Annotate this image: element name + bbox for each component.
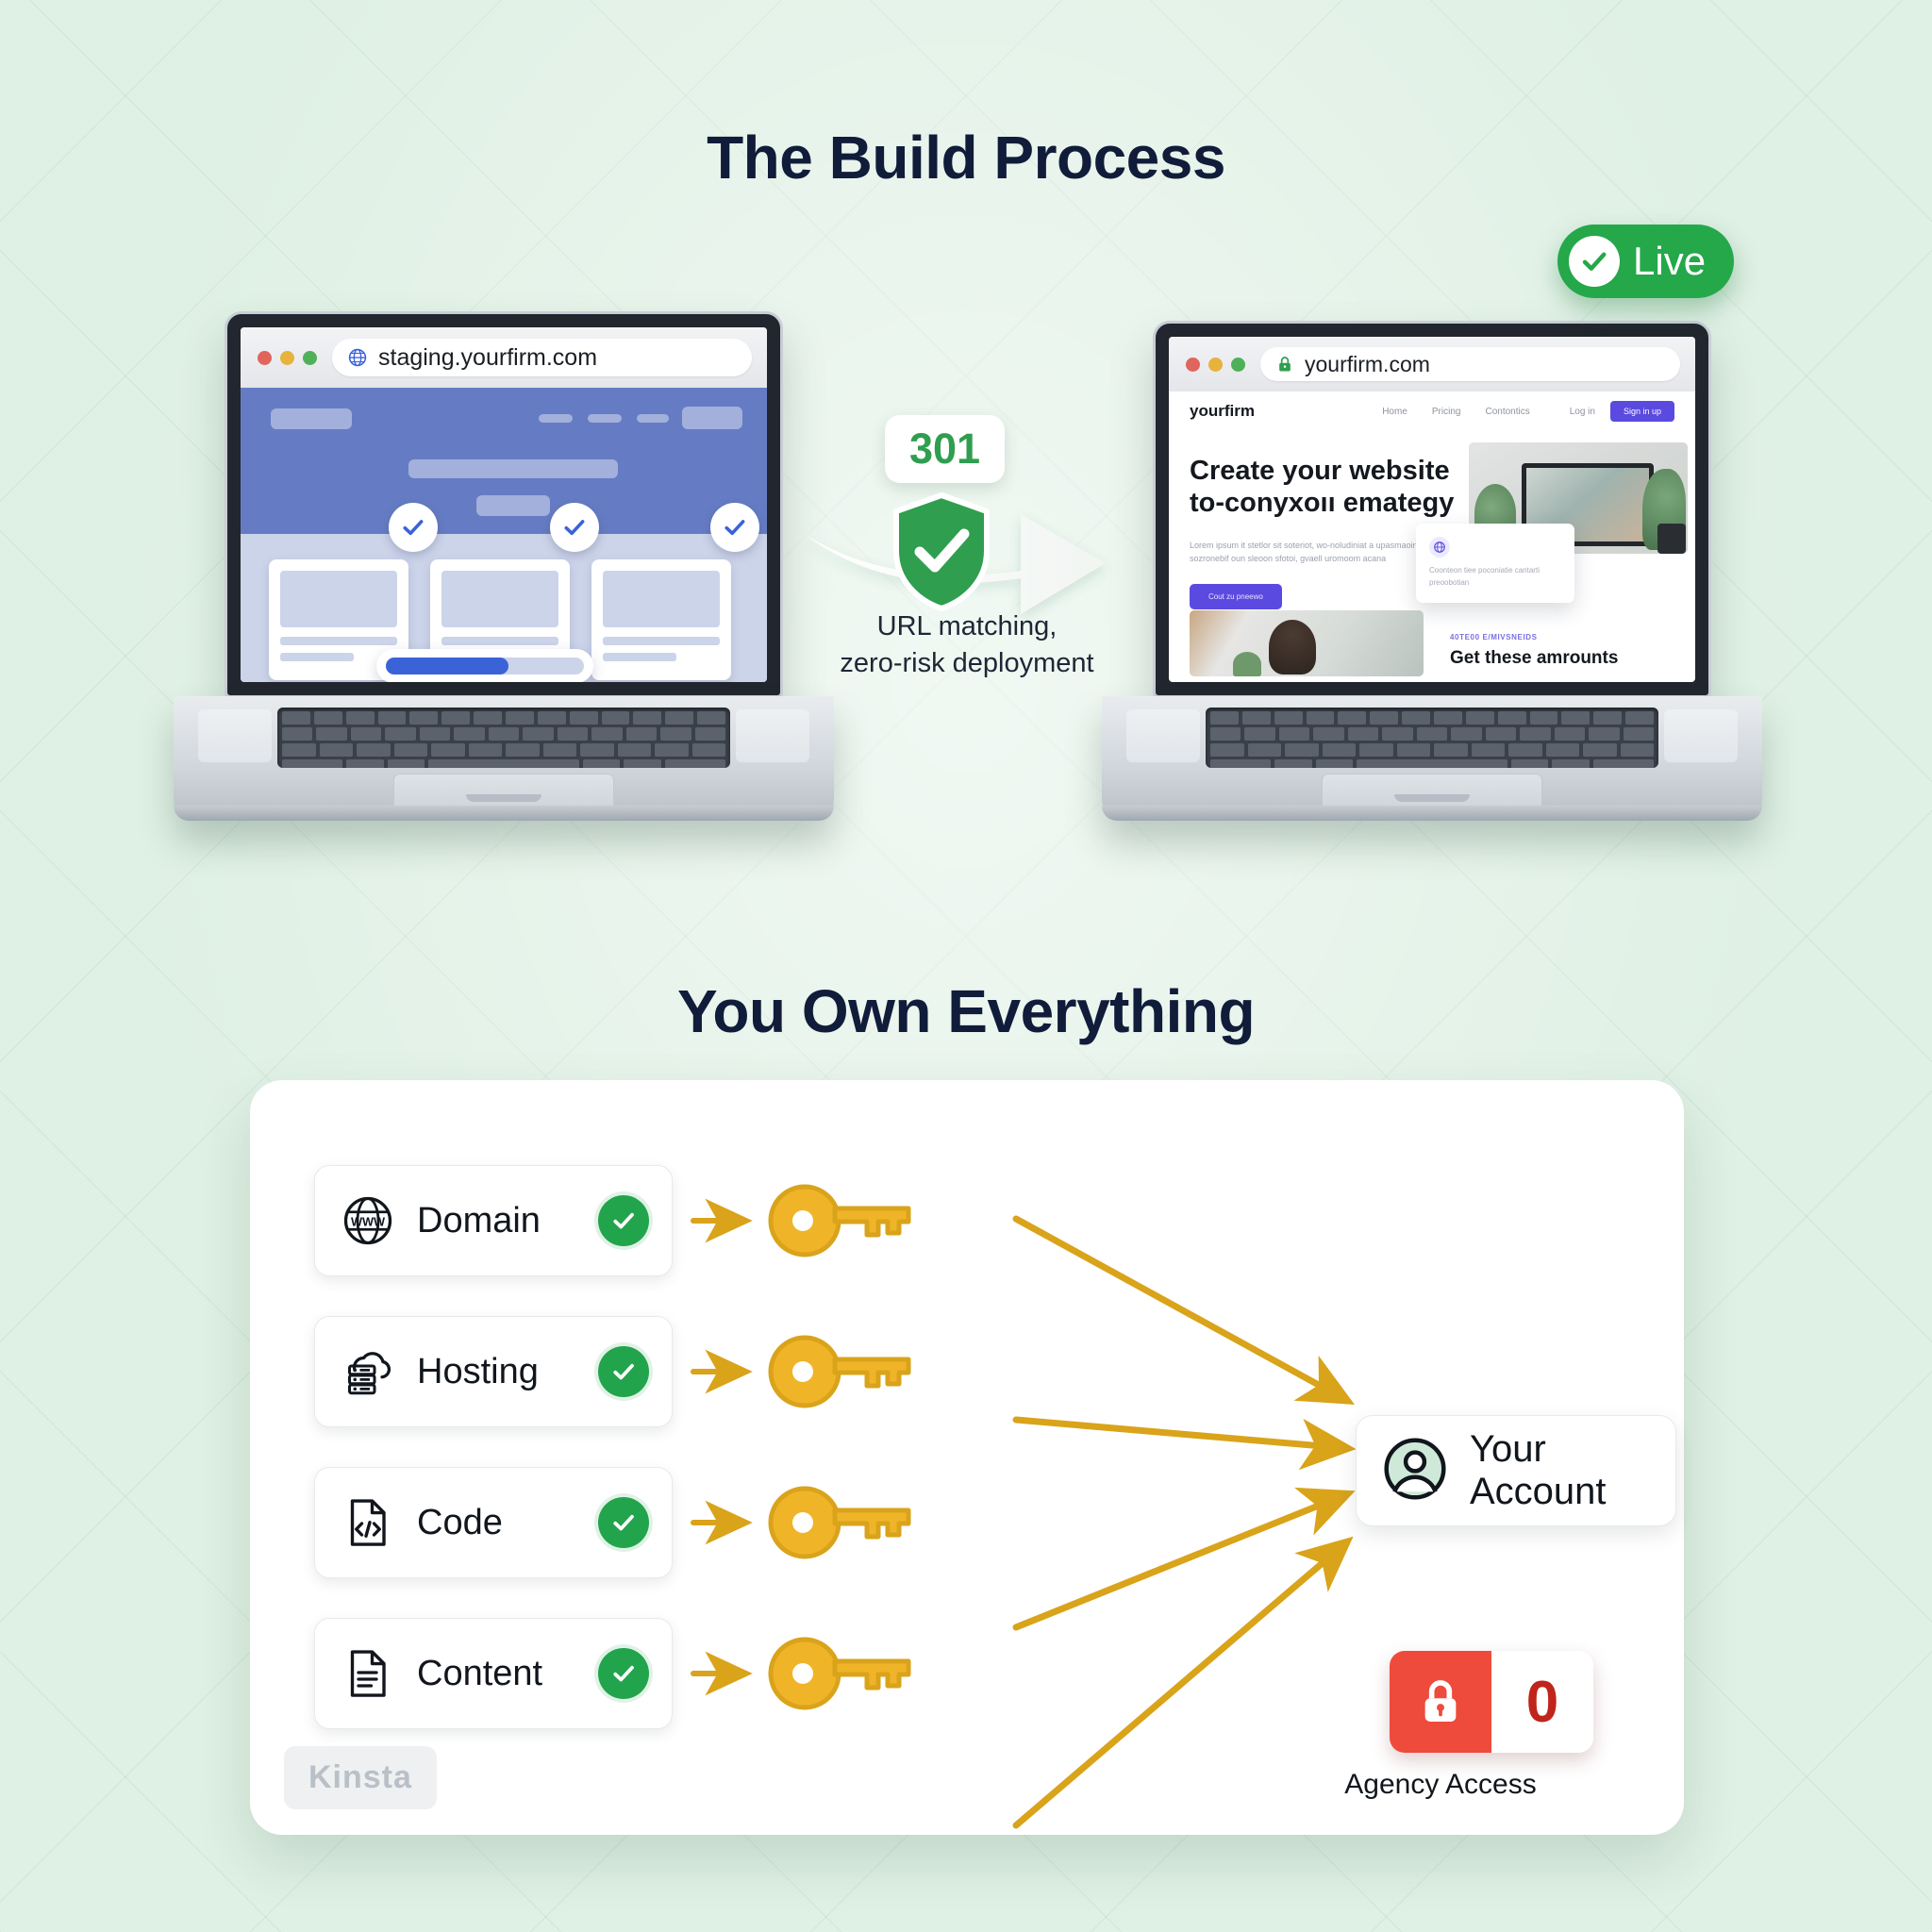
check-icon: [722, 514, 748, 541]
site-hero-paragraph: Lorem ipsum it stetlor sit soteriot, wo-…: [1190, 539, 1454, 566]
site-floating-card: Coonteon tiee poconiatie cantarti preoob…: [1416, 524, 1574, 603]
redirect-301-badge: 301: [885, 415, 1005, 483]
ownership-item-label: Hosting: [417, 1352, 598, 1392]
wireframe-card-image: [280, 571, 397, 627]
agency-access-count: 0: [1491, 1651, 1593, 1753]
ownership-item-label: Domain: [417, 1201, 598, 1241]
page-title-build-process: The Build Process: [0, 123, 1932, 192]
check-icon: [598, 1497, 649, 1548]
nav-login-link[interactable]: Log in: [1570, 407, 1595, 417]
wireframe-card: [591, 559, 731, 680]
transition-caption-line1: URL matching,: [811, 608, 1123, 645]
ownership-item-label: Code: [417, 1503, 598, 1543]
palm-rest-left: [1126, 709, 1200, 762]
progress-fill: [386, 658, 508, 675]
kinsta-logo: Kinsta: [284, 1746, 437, 1809]
palm-rest-right: [736, 709, 809, 762]
keyboard-row: [277, 759, 730, 768]
nav-link-home[interactable]: Home: [1382, 407, 1407, 417]
minimize-dot-icon: [1208, 358, 1223, 372]
site-nav-links: Home Pricing Contontics: [1382, 407, 1530, 417]
wireframe-hero-headline: [408, 459, 618, 478]
wireframe-nav-cta: [682, 407, 742, 429]
check-icon: [598, 1346, 649, 1397]
staging-check-icon-2: [550, 503, 599, 552]
wireframe-nav-item: [637, 414, 669, 423]
shield-check-icon: [889, 491, 994, 613]
ownership-item-hosting[interactable]: Hosting: [314, 1316, 673, 1427]
keyboard-row: [277, 727, 730, 740]
laptop-open-notch: [466, 794, 541, 802]
staging-browser-chrome: staging.yourfirm.com: [241, 327, 767, 388]
live-url-bar[interactable]: yourfirm.com: [1260, 347, 1680, 381]
globe-www-icon: WWW: [338, 1191, 398, 1251]
check-icon: [561, 514, 588, 541]
laptop-base-lip: [174, 806, 834, 821]
laptop-base-lip: [1102, 806, 1762, 821]
kinsta-logo-text: Kinsta: [308, 1759, 412, 1795]
globe-icon: [347, 347, 368, 368]
laptop-open-notch: [1394, 794, 1470, 802]
progress-track: [386, 658, 584, 675]
laptop-live-keyboard[interactable]: [1206, 708, 1658, 768]
laptop-staging-keyboard[interactable]: [277, 708, 730, 768]
check-icon: [598, 1195, 649, 1246]
lock-icon: [1390, 1651, 1491, 1753]
keyboard-row: [1206, 727, 1658, 740]
staging-hero-band: [241, 388, 767, 534]
site-section-heading: Get these amrounts: [1450, 648, 1618, 669]
ownership-item-code[interactable]: Code: [314, 1467, 673, 1578]
staging-url-bar[interactable]: staging.yourfirm.com: [332, 339, 752, 376]
keyboard-row: [277, 711, 730, 724]
wireframe-card-line: [280, 653, 354, 661]
nav-link-pricing[interactable]: Pricing: [1432, 407, 1461, 417]
ownership-item-label: Content: [417, 1654, 598, 1694]
laptop-live-lid: yourfirm.com yourfirm Home Pricing Conto…: [1153, 321, 1711, 698]
live-browser-chrome: yourfirm.com: [1169, 337, 1695, 391]
wireframe-card-line: [280, 637, 397, 645]
laptop-live: yourfirm.com yourfirm Home Pricing Conto…: [1102, 311, 1762, 840]
site-hero-heading: Create your website to-conyxoıı emategy: [1190, 456, 1454, 519]
live-badge-label: Live: [1633, 239, 1706, 284]
keyboard-row: [1206, 743, 1658, 756]
wireframe-card-line: [441, 637, 558, 645]
wireframe-card-image: [603, 571, 720, 627]
wireframe-nav-item: [539, 414, 573, 423]
your-account-label: Your Account: [1470, 1428, 1643, 1513]
wireframe-card-image: [441, 571, 558, 627]
agency-access-badge: 0: [1390, 1651, 1593, 1753]
laptop-staging-base: [174, 696, 834, 821]
transition-caption-line2: zero-risk deployment: [811, 645, 1123, 682]
keyboard-row: [1206, 711, 1658, 724]
deployment-transition: 301 URL matching, zero-risk deployment: [811, 425, 1123, 708]
site-hero-button[interactable]: Cout zu pneewo: [1190, 584, 1282, 609]
staging-url-text: staging.yourfirm.com: [378, 344, 597, 372]
laptop-live-screen: yourfirm.com yourfirm Home Pricing Conto…: [1169, 337, 1695, 682]
site-logo: yourfirm: [1190, 402, 1255, 421]
close-dot-icon: [258, 351, 272, 365]
code-file-icon: [338, 1492, 398, 1553]
maximize-dot-icon: [1231, 358, 1245, 372]
agency-access-caption: Agency Access: [1344, 1769, 1537, 1801]
live-check-icon: [1569, 236, 1620, 287]
wireframe-card-line: [603, 653, 676, 661]
staging-body-band: [241, 534, 767, 682]
live-url-text: yourfirm.com: [1305, 352, 1430, 377]
keyboard-row: [277, 743, 730, 756]
staging-check-icon-1: [389, 503, 438, 552]
nav-signup-button[interactable]: Sign in up: [1610, 401, 1674, 422]
ownership-item-content[interactable]: Content: [314, 1618, 673, 1729]
site-lower-photo: [1190, 610, 1424, 676]
palm-rest-right: [1664, 709, 1738, 762]
laptop-staging: staging.yourfirm.com: [174, 311, 834, 840]
lock-icon: [1275, 355, 1294, 374]
svg-text:WWW: WWW: [351, 1214, 386, 1228]
key-icon-hosting: [767, 1333, 918, 1415]
check-icon: [400, 514, 426, 541]
nav-link-contact[interactable]: Contontics: [1485, 407, 1529, 417]
globe-badge-icon: [1429, 537, 1450, 558]
palm-rest-left: [198, 709, 272, 762]
laptop-live-base: [1102, 696, 1762, 821]
live-status-badge: Live: [1557, 225, 1734, 298]
user-circle-icon: [1381, 1435, 1449, 1507]
site-floating-card-text: Coonteon tiee poconiatie cantarti preoob…: [1429, 565, 1561, 590]
document-icon: [338, 1643, 398, 1704]
wireframe-logo-block: [271, 408, 352, 429]
wireframe-card-line: [603, 637, 720, 645]
keyboard-row: [1206, 759, 1658, 768]
window-traffic-lights: [1186, 358, 1245, 372]
minimize-dot-icon: [280, 351, 294, 365]
site-hero-heading-line1: Create your website: [1190, 456, 1454, 488]
key-icon-content: [767, 1635, 918, 1717]
ownership-card: WWW Domain: [250, 1080, 1684, 1835]
transition-caption: URL matching, zero-risk deployment: [811, 608, 1123, 682]
window-traffic-lights: [258, 351, 317, 365]
laptop-staging-lid: staging.yourfirm.com: [225, 311, 783, 698]
check-icon: [598, 1648, 649, 1699]
site-hero-heading-line2: to-conyxoıı emategy: [1190, 488, 1454, 520]
page-title-you-own-everything: You Own Everything: [0, 976, 1932, 1046]
close-dot-icon: [1186, 358, 1200, 372]
live-site-nav: yourfirm Home Pricing Contontics Log in …: [1169, 391, 1695, 431]
cloud-server-icon: [338, 1341, 398, 1402]
wireframe-hero-button: [476, 495, 550, 516]
laptop-staging-screen: staging.yourfirm.com: [241, 327, 767, 682]
infographic-stage: The Build Process: [0, 0, 1932, 1932]
staging-check-icon-3: [710, 503, 759, 552]
site-section-kicker: 40TE00 E/MIVSNEIDS: [1450, 633, 1538, 641]
maximize-dot-icon: [303, 351, 317, 365]
your-account-box[interactable]: Your Account: [1356, 1415, 1676, 1526]
key-icon-code: [767, 1484, 918, 1566]
ownership-item-domain[interactable]: WWW Domain: [314, 1165, 673, 1276]
wireframe-nav-item: [588, 414, 622, 423]
deploy-progress-bar: [376, 649, 593, 682]
key-icon-domain: [767, 1182, 918, 1264]
